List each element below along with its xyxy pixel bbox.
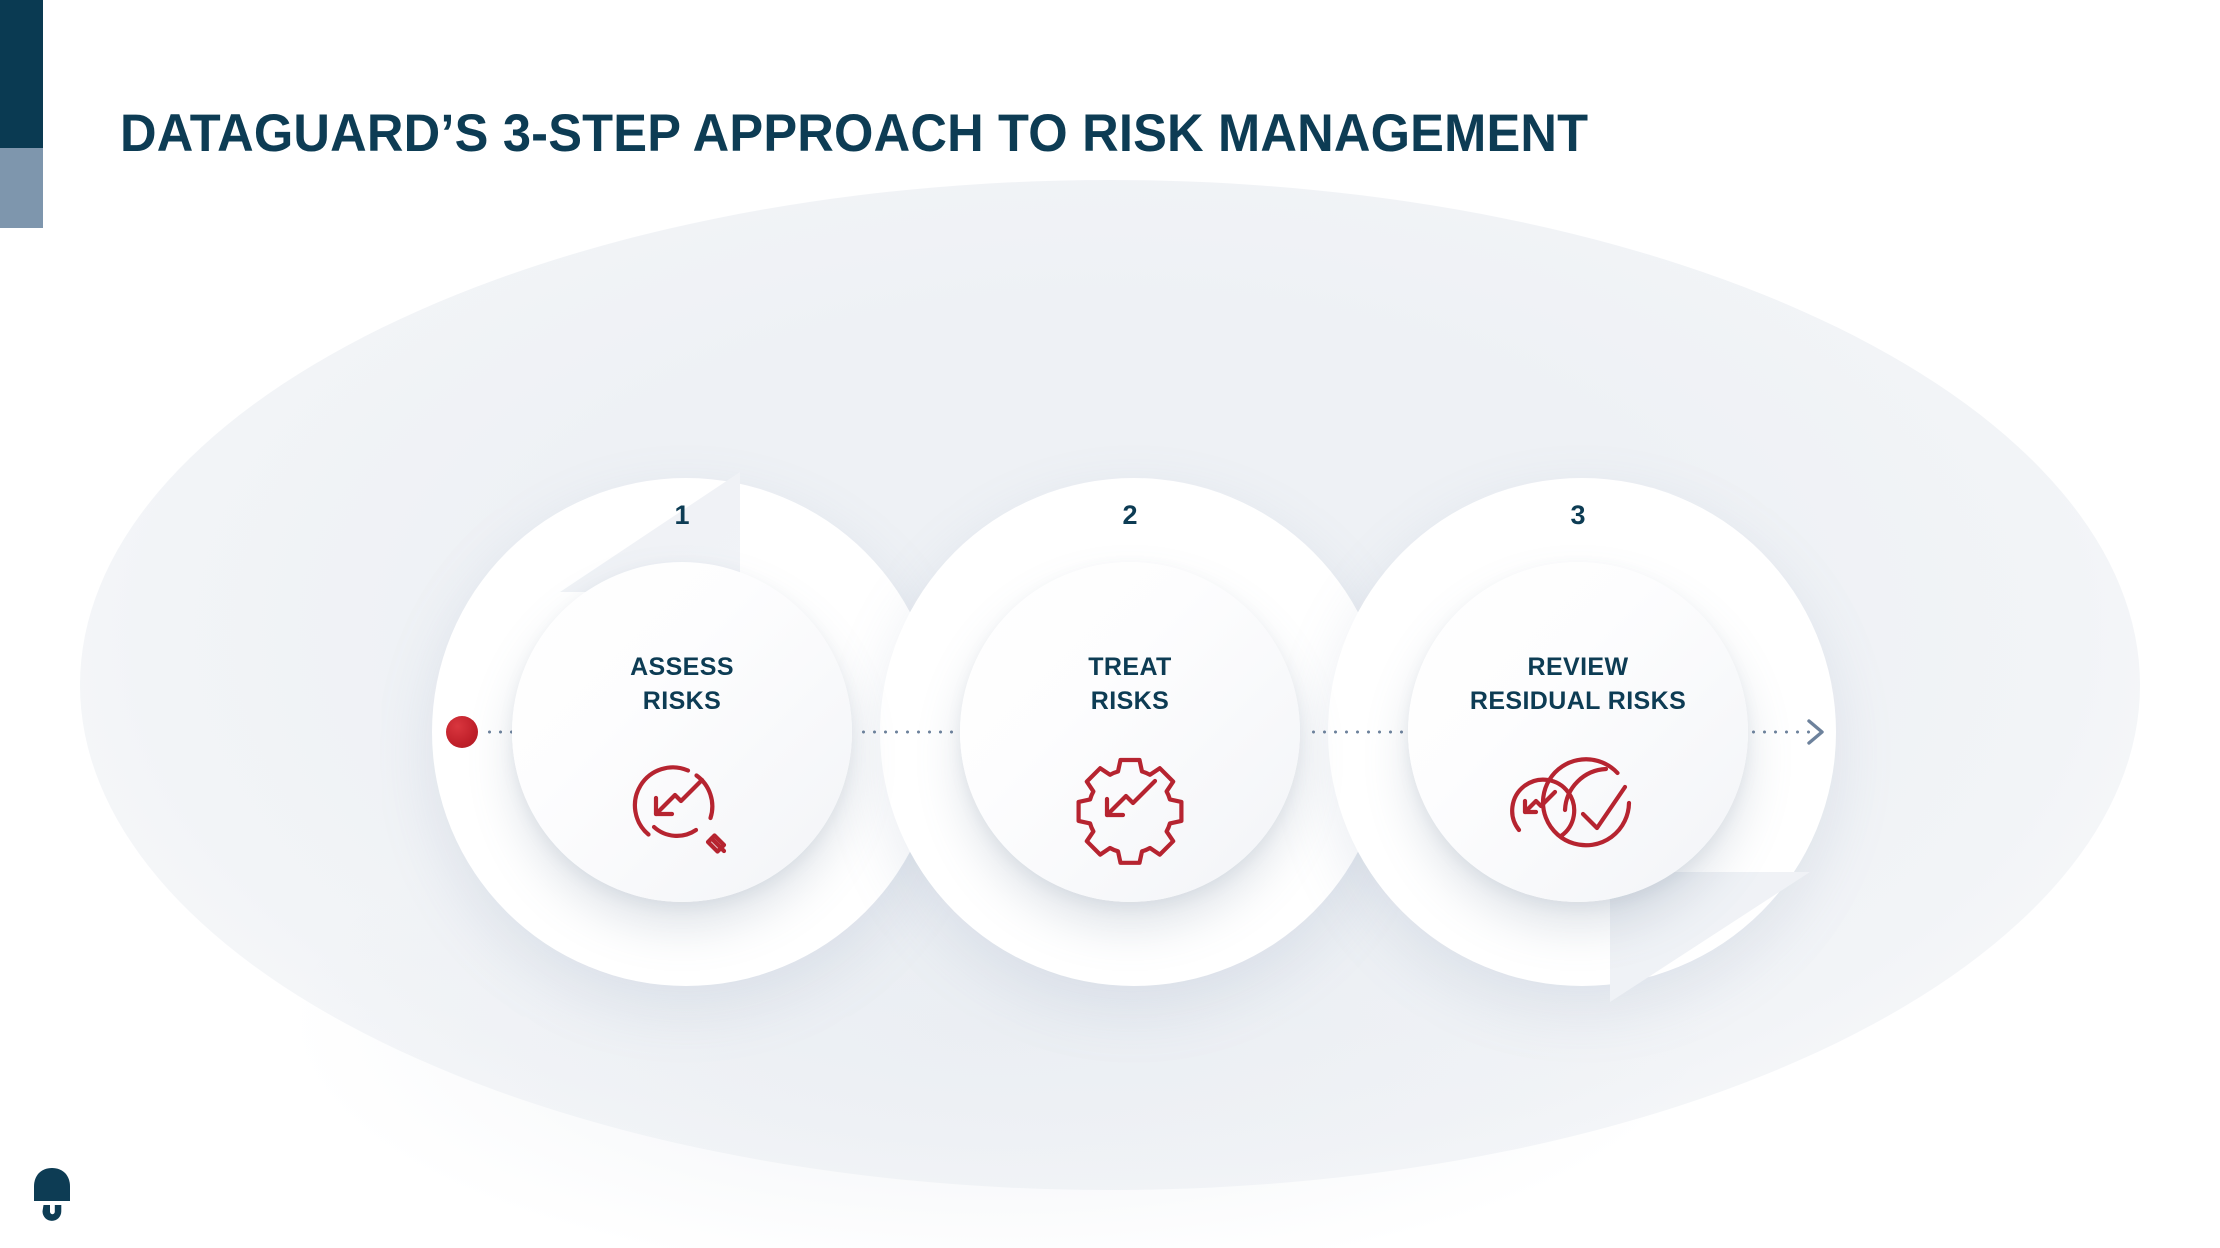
gear-risk-icon [1066,748,1194,866]
dataguard-logo-icon [30,1168,74,1226]
step-2-label: TREAT RISKS [960,650,1300,718]
connector-start-dot-icon [446,716,478,748]
process-step-1[interactable]: 1 ASSESS RISKS [512,562,852,902]
step-1-label: ASSESS RISKS [512,650,852,718]
risk-check-icon [1499,748,1657,866]
process-step-3[interactable]: 3 REVIEW RESIDUAL RISKS [1408,562,1748,902]
magnifier-risk-icon [618,748,746,866]
process-step-2[interactable]: 2 TREAT RISKS [960,562,1300,902]
process-diagram: 1 ASSESS RISKS 2 [0,0,2220,1248]
step-1-number: 1 [512,500,852,531]
slide-canvas: DATAGUARD’S 3-STEP APPROACH TO RISK MANA… [0,0,2220,1248]
step-2-number: 2 [960,500,1300,531]
step-3-label: REVIEW RESIDUAL RISKS [1408,650,1748,718]
connector-arrow-icon [1800,712,1830,752]
step-3-number: 3 [1408,500,1748,531]
